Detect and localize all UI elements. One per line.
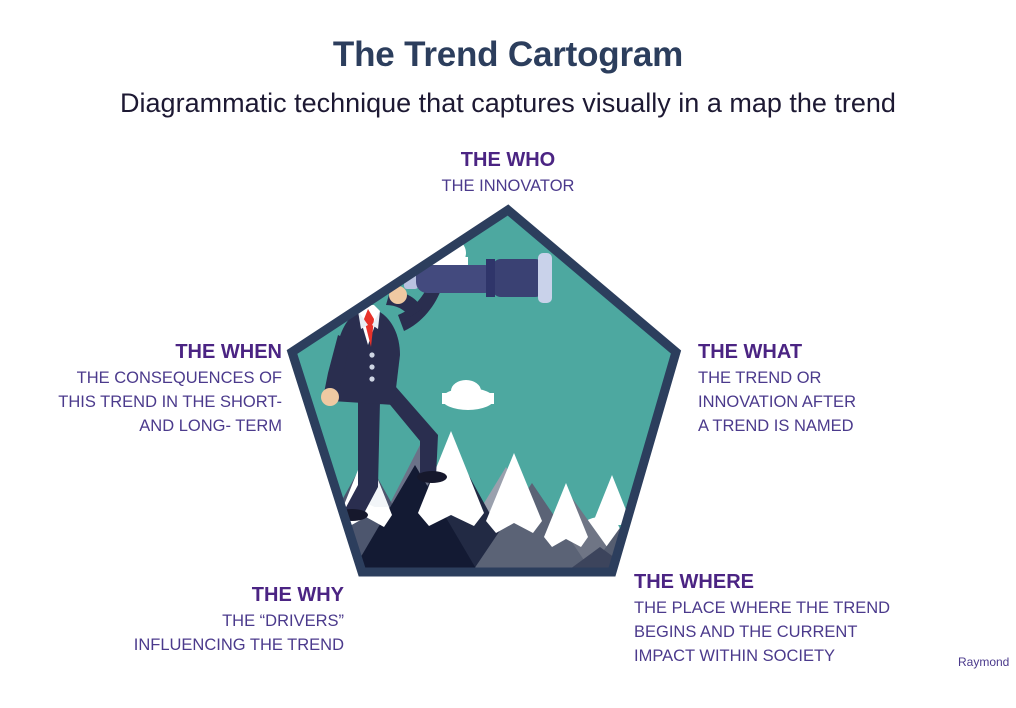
callout-when-title: THE WHEN bbox=[0, 340, 282, 365]
credit-label: Raymond bbox=[958, 655, 1009, 669]
page-title: The Trend Cartogram bbox=[0, 36, 1016, 75]
callout-when-line-2: THIS TREND IN THE SHORT- bbox=[0, 391, 282, 415]
callout-what-line-1: THE TREND OR bbox=[698, 367, 998, 391]
callout-what-line-3: A TREND IS NAMED bbox=[698, 415, 998, 439]
callout-what: THE WHAT THE TREND OR INNOVATION AFTER A… bbox=[698, 340, 998, 439]
page-subtitle: Diagrammatic technique that captures vis… bbox=[0, 88, 1016, 119]
callout-why-line-2: INFLUENCING THE TREND bbox=[70, 634, 344, 658]
callout-where-body: THE PLACE WHERE THE TREND BEGINS AND THE… bbox=[634, 597, 964, 669]
callout-where-line-3: IMPACT WITHIN SOCIETY bbox=[634, 645, 964, 669]
callout-where: THE WHERE THE PLACE WHERE THE TREND BEGI… bbox=[634, 570, 964, 669]
callout-who-line-1: THE INNOVATOR bbox=[0, 175, 1016, 199]
callout-what-body: THE TREND OR INNOVATION AFTER A TREND IS… bbox=[698, 367, 998, 439]
callout-where-line-2: BEGINS AND THE CURRENT bbox=[634, 621, 964, 645]
callout-when-line-1: THE CONSEQUENCES OF bbox=[0, 367, 282, 391]
trend-cartogram-pentagon bbox=[270, 195, 690, 595]
callout-who-title: THE WHO bbox=[0, 148, 1016, 173]
slide-canvas: The Trend Cartogram Diagrammatic techniq… bbox=[0, 0, 1016, 708]
callout-why-title: THE WHY bbox=[70, 583, 344, 608]
callout-what-title: THE WHAT bbox=[698, 340, 998, 365]
callout-why-line-1: THE “DRIVERS” bbox=[70, 610, 344, 634]
callout-when-body: THE CONSEQUENCES OF THIS TREND IN THE SH… bbox=[0, 367, 282, 439]
callout-who-body: THE INNOVATOR bbox=[0, 175, 1016, 199]
callout-why-body: THE “DRIVERS” INFLUENCING THE TREND bbox=[70, 610, 344, 658]
callout-who: THE WHO THE INNOVATOR bbox=[0, 148, 1016, 199]
callout-when-line-3: AND LONG- TERM bbox=[0, 415, 282, 439]
callout-where-title: THE WHERE bbox=[634, 570, 964, 595]
callout-what-line-2: INNOVATION AFTER bbox=[698, 391, 998, 415]
callout-where-line-1: THE PLACE WHERE THE TREND bbox=[634, 597, 964, 621]
callout-when: THE WHEN THE CONSEQUENCES OF THIS TREND … bbox=[0, 340, 282, 439]
callout-why: THE WHY THE “DRIVERS” INFLUENCING THE TR… bbox=[70, 583, 344, 658]
